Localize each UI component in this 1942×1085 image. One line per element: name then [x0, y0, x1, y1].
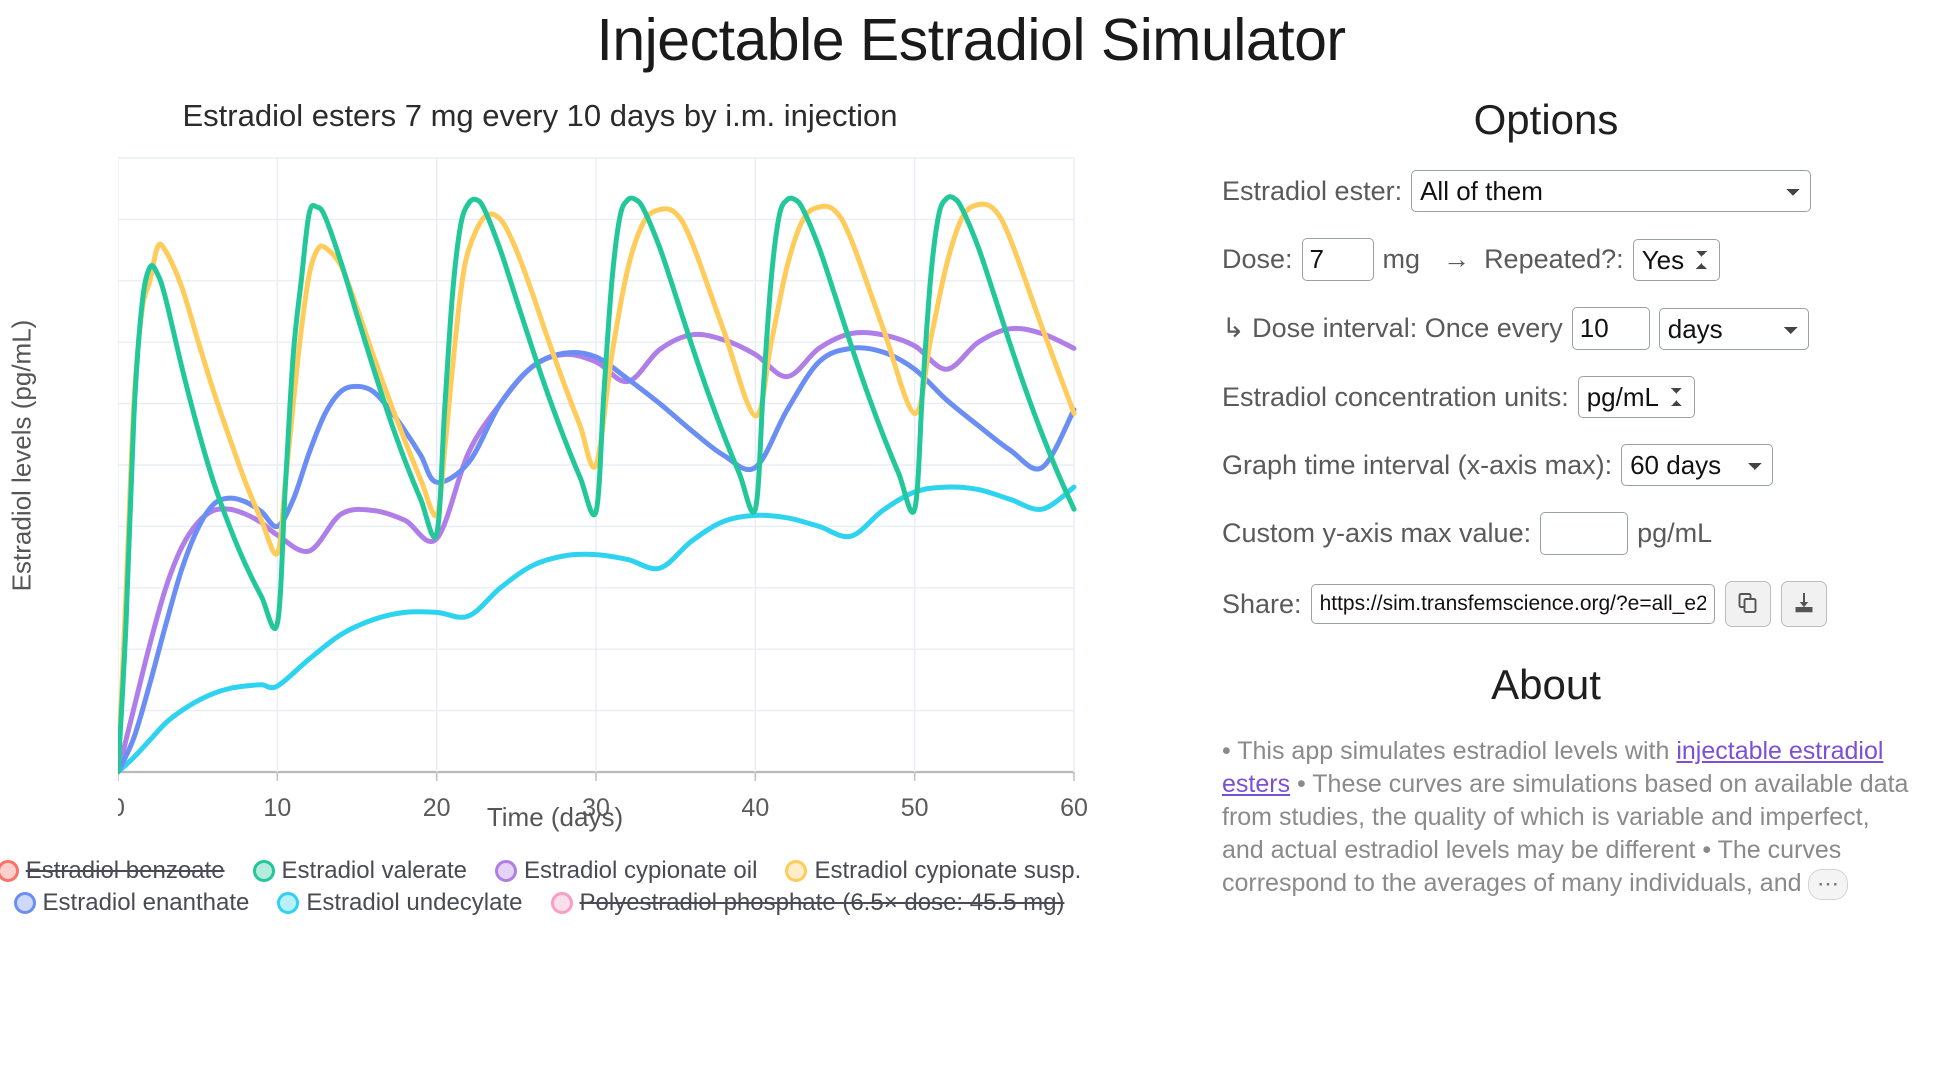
copy-button[interactable] — [1725, 581, 1771, 627]
legend-item-label: Estradiol benzoate — [26, 857, 225, 885]
units-label: Estradiol concentration units: — [1222, 382, 1569, 413]
about-part1: • This app simulates estradiol levels wi… — [1222, 737, 1676, 765]
option-row-time-interval: Graph time interval (x-axis max): 60 day… — [1210, 444, 1942, 486]
share-label: Share: — [1222, 589, 1302, 620]
expand-more-icon[interactable]: ⋯ — [1808, 869, 1848, 900]
option-row-ester: Estradiol ester: All of them — [1210, 170, 1942, 212]
legend-item-label: Estradiol valerate — [282, 857, 467, 885]
legend-marker-icon — [277, 892, 299, 914]
arrow-icon: → — [1443, 244, 1470, 275]
legend-row: Estradiol enanthateEstradiol undecylateP… — [108, 887, 970, 919]
legend-item[interactable]: Polyestradiol phosphate (6.5× dose: 45.5… — [551, 889, 1065, 917]
units-select[interactable]: pg/mL — [1578, 376, 1695, 418]
ymax-unit: pg/mL — [1637, 518, 1712, 549]
legend-marker-icon — [785, 860, 807, 882]
dose-unit: mg — [1383, 244, 1421, 275]
svg-text:40: 40 — [741, 794, 769, 822]
svg-text:10: 10 — [263, 794, 291, 822]
legend-item[interactable]: Estradiol undecylate — [277, 889, 522, 917]
option-row-dose: Dose: mg → Repeated?: Yes — [1210, 238, 1942, 281]
legend-item-label: Estradiol enanthate — [43, 889, 250, 917]
ymax-input[interactable] — [1540, 512, 1628, 555]
option-row-dose-interval: ↳ Dose interval: Once every days — [1210, 307, 1942, 350]
chart-title: Estradiol esters 7 mg every 10 days by i… — [0, 98, 1200, 134]
ester-select[interactable]: All of them — [1411, 170, 1811, 212]
ymax-label: Custom y-axis max value: — [1222, 518, 1531, 549]
legend-item[interactable]: Estradiol enanthate — [14, 889, 250, 917]
page-title: Injectable Estradiol Simulator — [0, 6, 1942, 74]
options-panel: Options Estradiol ester: All of them Dos… — [1200, 74, 1942, 925]
legend-item[interactable]: Estradiol valerate — [253, 857, 467, 885]
chart-legend: Estradiol benzoateEstradiol valerateEstr… — [0, 855, 1010, 919]
legend-marker-icon — [495, 860, 517, 882]
dose-label: Dose: — [1222, 244, 1293, 275]
dose-interval-label: ↳ Dose interval: Once every — [1222, 313, 1563, 344]
main-layout: Estradiol esters 7 mg every 10 days by i… — [0, 74, 1942, 925]
download-button[interactable] — [1781, 581, 1827, 627]
legend-item-label: Estradiol cypionate oil — [524, 857, 757, 885]
legend-marker-icon — [0, 860, 19, 882]
about-text: • This app simulates estradiol levels wi… — [1210, 735, 1942, 900]
legend-marker-icon — [253, 860, 275, 882]
legend-marker-icon — [14, 892, 36, 914]
legend-item[interactable]: Estradiol benzoate — [0, 857, 225, 885]
legend-marker-icon — [551, 892, 573, 914]
legend-item[interactable]: Estradiol cypionate oil — [495, 857, 757, 885]
share-url-input[interactable] — [1311, 584, 1715, 624]
ester-label: Estradiol ester: — [1222, 176, 1402, 207]
repeated-label: Repeated?: — [1484, 244, 1624, 275]
dose-interval-input[interactable] — [1572, 307, 1650, 350]
svg-text:0: 0 — [118, 794, 125, 822]
download-icon — [1792, 591, 1816, 618]
time-interval-label: Graph time interval (x-axis max): — [1222, 450, 1612, 481]
chart-panel: Estradiol esters 7 mg every 10 days by i… — [0, 74, 1200, 925]
option-row-ymax: Custom y-axis max value: pg/mL — [1210, 512, 1942, 555]
repeated-select[interactable]: Yes — [1633, 239, 1720, 281]
dose-interval-unit-select[interactable]: days — [1659, 308, 1809, 350]
svg-text:30: 30 — [582, 794, 610, 822]
legend-item[interactable]: Estradiol cypionate susp. — [785, 857, 1081, 885]
legend-row: Estradiol benzoateEstradiol valerateEstr… — [108, 855, 970, 887]
option-row-units: Estradiol concentration units: pg/mL — [1210, 376, 1942, 418]
legend-item-label: Estradiol cypionate susp. — [814, 857, 1081, 885]
plot-wrapper: Estradiol levels (pg/mL) 050100150200250… — [0, 140, 1200, 800]
copy-icon — [1736, 591, 1760, 618]
legend-item-label: Polyestradiol phosphate (6.5× dose: 45.5… — [580, 889, 1065, 917]
svg-text:20: 20 — [423, 794, 451, 822]
svg-text:60: 60 — [1060, 794, 1088, 822]
about-heading: About — [1210, 661, 1942, 709]
legend-item-label: Estradiol undecylate — [306, 889, 522, 917]
option-row-share: Share: — [1210, 581, 1942, 627]
about-part2: • These curves are simulations based on … — [1222, 770, 1908, 897]
y-axis-label: Estradiol levels (pg/mL) — [7, 176, 38, 736]
plot-area: 0501001502002503003504004505000102030405… — [118, 148, 1148, 838]
options-heading: Options — [1210, 96, 1942, 144]
time-interval-select[interactable]: 60 days — [1621, 444, 1773, 486]
line-chart: 0501001502002503003504004505000102030405… — [118, 148, 1148, 848]
dose-input[interactable] — [1302, 238, 1374, 281]
svg-text:50: 50 — [901, 794, 929, 822]
